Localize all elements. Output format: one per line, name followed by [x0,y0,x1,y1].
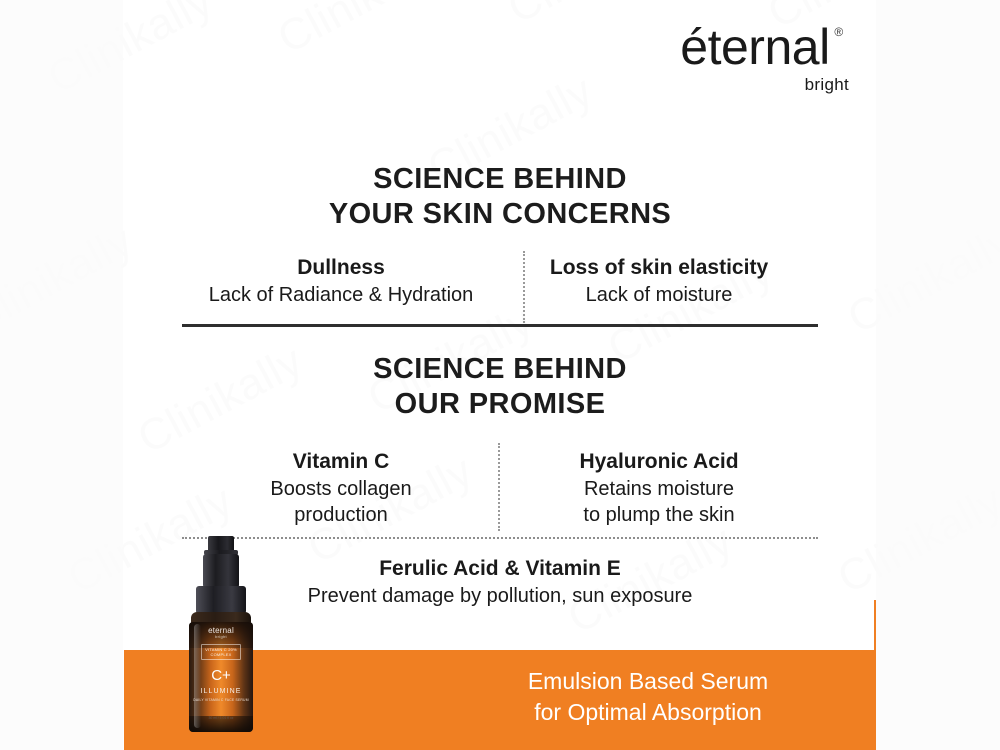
concern-item-dullness: Dullness Lack of Radiance & Hydration [182,255,500,308]
right-margin-strip [876,0,1000,750]
section-title-line2: YOUR SKIN CONCERNS [182,197,818,232]
section-our-promise: SCIENCE BEHIND OUR PROMISE Vitamin C Boo… [182,352,818,528]
column-divider [523,251,525,323]
concern-body: Lack of Radiance & Hydration [182,282,500,308]
concern-heading: Dullness [182,255,500,282]
section-divider-solid [182,324,818,327]
section-ferulic-vitamin-e: Ferulic Acid & Vitamin E Prevent damage … [182,556,818,609]
brand-logo-main: éternal® [680,22,829,72]
brand-logo: éternal® bright [655,22,855,95]
promise-body-line2: to plump the skin [500,502,818,528]
bottle-collar [196,586,246,614]
brand-logo-wordmark: éternal [680,19,829,75]
benefit-body: Prevent damage by pollution, sun exposur… [182,583,818,609]
section-title-our-promise: SCIENCE BEHIND OUR PROMISE [182,352,818,423]
promise-body-line2: production [182,502,500,528]
promise-body-line1: Retains moisture [500,476,818,502]
promise-item-vitamin-c: Vitamin C Boosts collagen production [182,449,500,528]
section-title-line1: SCIENCE BEHIND [182,352,818,387]
left-margin-strip [0,0,123,750]
promo-banner-line1: Emulsion Based Serum [420,666,876,697]
brand-logo-sub: bright [655,75,855,95]
promo-banner-text: Emulsion Based Serum for Optimal Absorpt… [420,666,876,727]
promise-heading: Hyaluronic Acid [500,449,818,476]
section-title-line2: OUR PROMISE [182,387,818,422]
section-title-skin-concerns: SCIENCE BEHIND YOUR SKIN CONCERNS [182,162,818,233]
concern-item-elasticity: Loss of skin elasticity Lack of moisture [500,255,818,308]
promise-item-hyaluronic-acid: Hyaluronic Acid Retains moisture to plum… [500,449,818,528]
section-skin-concerns: SCIENCE BEHIND YOUR SKIN CONCERNS Dullne… [182,162,818,308]
concern-heading: Loss of skin elasticity [500,255,818,282]
concerns-row: Dullness Lack of Radiance & Hydration Lo… [182,255,818,308]
concern-body: Lack of moisture [500,282,818,308]
bottle-gloss-highlight [194,624,201,728]
banner-accent-edge [874,600,876,650]
registered-trademark-icon: ® [834,26,842,38]
infographic-page: Clinikally Clinikally Clinikally Clinika… [0,0,1000,750]
section-title-line1: SCIENCE BEHIND [182,162,818,197]
watermark-text: Clinikally [500,0,681,34]
benefit-heading: Ferulic Acid & Vitamin E [182,556,818,583]
product-bottle-image: eternal bright VITAMIN C 20% COMPLEX C+ … [186,536,256,740]
bottle-label-chip: VITAMIN C 20% COMPLEX [201,644,241,660]
promise-body-line1: Boosts collagen [182,476,500,502]
promise-row: Vitamin C Boosts collagen production Hya… [182,449,818,528]
column-divider [498,443,500,531]
promise-heading: Vitamin C [182,449,500,476]
promo-banner-line2: for Optimal Absorption [420,697,876,728]
section-divider-dotted [182,537,818,539]
watermark-text: Clinikally [270,0,451,64]
bottle-pump-head [203,554,239,588]
